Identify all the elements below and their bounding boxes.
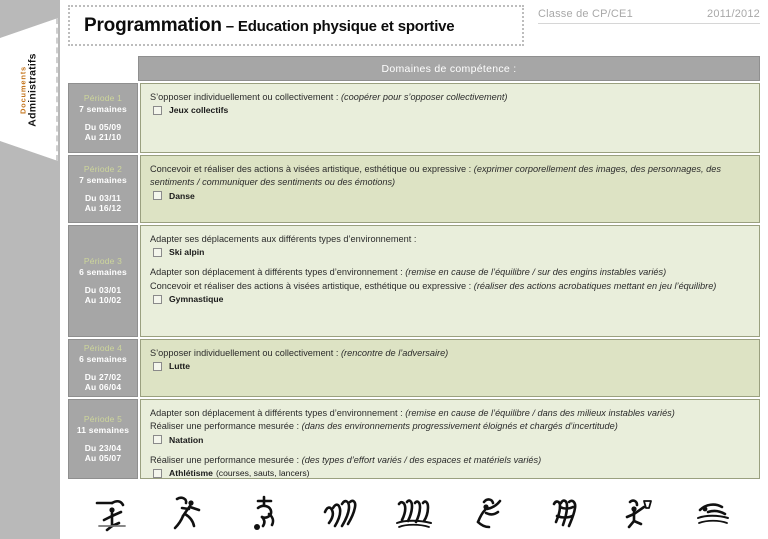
gymnastics-beam-icon bbox=[88, 490, 140, 534]
period-name: Période 2 bbox=[84, 164, 122, 175]
period-start-date: Du 03/11 bbox=[85, 193, 121, 204]
competence-line: Concevoir et réaliser des actions à visé… bbox=[150, 280, 751, 293]
football-collective-games-icon bbox=[238, 490, 290, 534]
pictogram-strip bbox=[68, 488, 760, 536]
competence-text: Concevoir et réaliser des actions à visé… bbox=[150, 164, 474, 174]
activity-item[interactable]: Gymnastique bbox=[150, 294, 751, 304]
competence-detail: (remise en cause de l’équilibre / dans d… bbox=[405, 408, 675, 418]
competence-detail: (coopérer pour s’opposer collectivement) bbox=[341, 92, 507, 102]
competence-line: S’opposer individuellement ou collective… bbox=[150, 347, 751, 360]
competence-cell: Adapter son déplacement à différents typ… bbox=[140, 399, 760, 479]
wrestling-icon bbox=[538, 490, 590, 534]
activity-name: Natation bbox=[169, 435, 203, 445]
competence-cell: Adapter ses déplacements aux différents … bbox=[140, 225, 760, 337]
activity-item[interactable]: Jeux collectifs bbox=[150, 105, 751, 115]
competence-block: S’opposer individuellement ou collective… bbox=[150, 347, 751, 371]
period-start-date: Du 05/09 bbox=[85, 122, 122, 133]
period-start-date: Du 27/02 bbox=[85, 372, 122, 383]
period-weeks: 7 semaines bbox=[79, 104, 127, 115]
period-weeks: 6 semaines bbox=[79, 267, 127, 278]
basketball-icon bbox=[613, 490, 665, 534]
competence-text: Concevoir et réaliser des actions à visé… bbox=[150, 281, 474, 291]
competence-block: S’opposer individuellement ou collective… bbox=[150, 91, 751, 115]
running-athletics-icon bbox=[163, 490, 215, 534]
competence-text: Réaliser une performance mesurée : bbox=[150, 421, 302, 431]
swimming-group-icon bbox=[388, 490, 440, 534]
tab-label-administratifs: Administratifs bbox=[27, 53, 38, 126]
competence-text: Adapter ses déplacements aux différents … bbox=[150, 234, 416, 244]
period-start-date: Du 03/01 bbox=[85, 285, 122, 296]
activity-item[interactable]: Natation bbox=[150, 435, 751, 445]
period-end-date: Au 21/10 bbox=[85, 132, 122, 143]
competence-line: Réaliser une performance mesurée : (des … bbox=[150, 454, 751, 467]
activity-note: (courses, sauts, lancers) bbox=[216, 468, 310, 478]
competence-block: Réaliser une performance mesurée : (des … bbox=[150, 454, 751, 478]
table-row: Période 36 semainesDu 03/01Au 10/02Adapt… bbox=[68, 225, 760, 337]
period-cell: Période 17 semainesDu 05/09Au 21/10 bbox=[68, 83, 138, 153]
activity-item[interactable]: Lutte bbox=[150, 361, 751, 371]
period-cell: Période 46 semainesDu 27/02Au 06/04 bbox=[68, 339, 138, 397]
activity-name: Danse bbox=[169, 191, 195, 201]
dance-icon bbox=[313, 490, 365, 534]
competence-block: Adapter son déplacement à différents typ… bbox=[150, 266, 751, 304]
competence-block: Concevoir et réaliser des actions à visé… bbox=[150, 163, 751, 201]
title-box: Programmation – Education physique et sp… bbox=[68, 5, 524, 46]
competence-detail: (réaliser des actions acrobatiques metta… bbox=[474, 281, 717, 291]
competence-detail: (rencontre de l’adversaire) bbox=[341, 348, 448, 358]
document-page: Programmation – Education physique et sp… bbox=[60, 0, 768, 539]
competence-text: Réaliser une performance mesurée : bbox=[150, 455, 302, 465]
activity-item[interactable]: Athlétisme (courses, sauts, lancers) bbox=[150, 468, 751, 478]
period-cell: Période 27 semainesDu 03/11Au 16/12 bbox=[68, 155, 138, 223]
period-end-date: Au 16/12 bbox=[85, 203, 122, 214]
slide-root: Documents Administratifs Programmation –… bbox=[0, 0, 768, 539]
period-start-date: Du 23/04 bbox=[85, 443, 122, 454]
competence-detail: (remise en cause de l’équilibre / sur de… bbox=[405, 267, 666, 277]
competence-line: Adapter son déplacement à différents typ… bbox=[150, 266, 751, 279]
period-weeks: 7 semaines bbox=[79, 175, 127, 186]
competence-block: Adapter son déplacement à différents typ… bbox=[150, 407, 751, 445]
table-row: Période 511 semainesDu 23/04Au 05/07Adap… bbox=[68, 399, 760, 479]
competence-cell: Concevoir et réaliser des actions à visé… bbox=[140, 155, 760, 223]
period-name: Période 3 bbox=[84, 256, 122, 267]
checkbox-icon[interactable] bbox=[153, 295, 162, 304]
competence-detail: (des types d’effort variés / des espaces… bbox=[302, 455, 542, 465]
title-main: Programmation bbox=[84, 15, 222, 36]
title-separator: – bbox=[222, 18, 238, 35]
competence-detail: (dans des environnements progressivement… bbox=[302, 421, 618, 431]
header-meta: Classe de CP/CE1 2011/2012 bbox=[538, 8, 760, 24]
checkbox-icon[interactable] bbox=[153, 106, 162, 115]
competence-line: S’opposer individuellement ou collective… bbox=[150, 91, 751, 104]
competence-block: Adapter ses déplacements aux différents … bbox=[150, 233, 751, 257]
competence-line: Réaliser une performance mesurée : (dans… bbox=[150, 420, 751, 433]
programmation-table: Domaines de compétence : Période 17 sema… bbox=[68, 56, 760, 479]
activity-name: Ski alpin bbox=[169, 247, 204, 257]
table-row: Période 17 semainesDu 05/09Au 21/10S’opp… bbox=[68, 83, 760, 153]
period-end-date: Au 10/02 bbox=[85, 295, 122, 306]
period-name: Période 5 bbox=[84, 414, 122, 425]
competence-line: Adapter ses déplacements aux différents … bbox=[150, 233, 751, 246]
table-column-header: Domaines de compétence : bbox=[138, 56, 760, 81]
page-title: Programmation – Education physique et sp… bbox=[70, 15, 454, 37]
activity-name: Gymnastique bbox=[169, 294, 223, 304]
period-name: Période 4 bbox=[84, 343, 122, 354]
tab-label-group: Documents Administratifs bbox=[20, 53, 39, 126]
checkbox-icon[interactable] bbox=[153, 191, 162, 200]
period-end-date: Au 06/04 bbox=[85, 382, 122, 393]
period-weeks: 6 semaines bbox=[79, 354, 127, 365]
checkbox-icon[interactable] bbox=[153, 469, 162, 478]
competence-line: Concevoir et réaliser des actions à visé… bbox=[150, 163, 751, 190]
table-row: Période 27 semainesDu 03/11Au 16/12Conce… bbox=[68, 155, 760, 223]
competence-line: Adapter son déplacement à différents typ… bbox=[150, 407, 751, 420]
competence-text: Adapter son déplacement à différents typ… bbox=[150, 267, 405, 277]
title-subtitle: Education physique et sportive bbox=[238, 18, 455, 35]
period-cell: Période 36 semainesDu 03/01Au 10/02 bbox=[68, 225, 138, 337]
table-row: Période 46 semainesDu 27/02Au 06/04S’opp… bbox=[68, 339, 760, 397]
competence-text: S’opposer individuellement ou collective… bbox=[150, 92, 341, 102]
activity-name: Athlétisme bbox=[169, 468, 213, 478]
activity-name: Lutte bbox=[169, 361, 190, 371]
checkbox-icon[interactable] bbox=[153, 435, 162, 444]
skiing-icon bbox=[463, 490, 515, 534]
checkbox-icon[interactable] bbox=[153, 248, 162, 257]
table-column-header-label: Domaines de compétence : bbox=[381, 63, 516, 75]
competence-text: S’opposer individuellement ou collective… bbox=[150, 348, 341, 358]
competence-cell: S’opposer individuellement ou collective… bbox=[140, 339, 760, 397]
sidebar-tab-documents-administratifs[interactable]: Documents Administratifs bbox=[0, 18, 58, 161]
annee-scolaire-label: 2011/2012 bbox=[707, 8, 760, 20]
activity-item[interactable]: Ski alpin bbox=[150, 247, 751, 257]
activity-name: Jeux collectifs bbox=[169, 105, 228, 115]
period-weeks: 11 semaines bbox=[77, 425, 129, 436]
activity-item[interactable]: Danse bbox=[150, 191, 751, 201]
table-body: Période 17 semainesDu 05/09Au 21/10S’opp… bbox=[68, 83, 760, 479]
period-name: Période 1 bbox=[84, 93, 122, 104]
period-cell: Période 511 semainesDu 23/04Au 05/07 bbox=[68, 399, 138, 479]
competence-text: Adapter son déplacement à différents typ… bbox=[150, 408, 405, 418]
checkbox-icon[interactable] bbox=[153, 362, 162, 371]
swimming-waves-icon bbox=[688, 490, 740, 534]
competence-cell: S’opposer individuellement ou collective… bbox=[140, 83, 760, 153]
period-end-date: Au 05/07 bbox=[85, 453, 122, 464]
classe-label: Classe de CP/CE1 bbox=[538, 8, 633, 20]
